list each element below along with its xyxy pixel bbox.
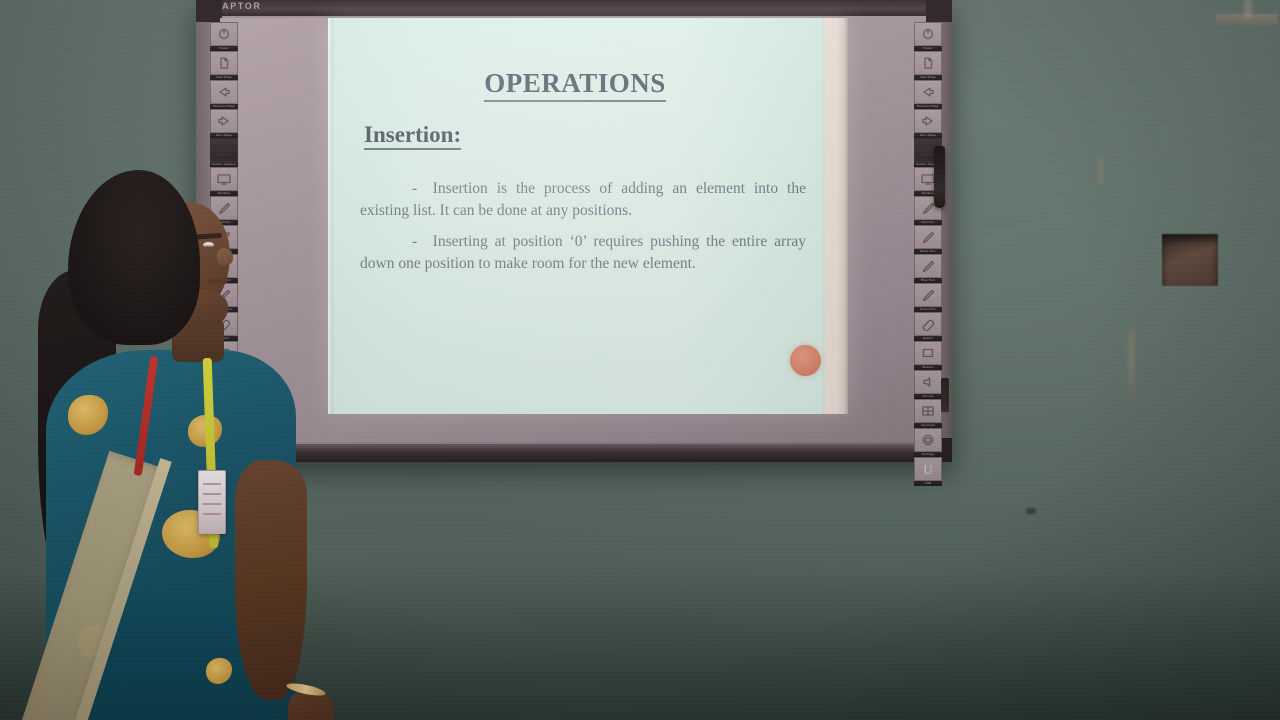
- wall-speck: [1026, 508, 1036, 514]
- toolbar-button-new-page[interactable]: [914, 51, 942, 75]
- toolbar-button-shape[interactable]: [914, 341, 942, 365]
- pen-green-icon: [920, 288, 936, 302]
- presenter-nose: [217, 248, 233, 265]
- slide-paragraph: - Insertion is the process of adding an …: [360, 178, 806, 222]
- presenter-hair: [68, 170, 200, 345]
- wall-mark-secondary: [1098, 158, 1104, 184]
- presenter-eye: [203, 242, 214, 248]
- toolbar-button-pen-blue[interactable]: [914, 254, 942, 278]
- orange-dot-marker: [790, 345, 821, 376]
- slide-title: OPERATIONS: [328, 68, 822, 99]
- wall-shelf-post: [1244, 0, 1252, 18]
- slide-body: - Insertion is the process of adding an …: [360, 178, 806, 284]
- arrow-left-icon: [216, 85, 232, 99]
- whiteboard-toolbar-right[interactable]: PowerNew PagePrevious PageNext PageScree…: [914, 22, 942, 486]
- new-page-icon: [920, 56, 936, 70]
- arrow-left-icon: [920, 85, 936, 99]
- toolbar-button-volume[interactable]: [914, 370, 942, 394]
- slide-paragraph: - Inserting at position ‘0’ requires pus…: [360, 231, 806, 275]
- arrow-right-icon: [920, 114, 936, 128]
- volume-icon: [920, 375, 936, 389]
- whiteboard-corner-top-left: [196, 0, 222, 22]
- whiteboard-frame-top: [196, 0, 952, 16]
- presenter-arm: [235, 460, 307, 700]
- usb-glyph: U: [923, 463, 932, 476]
- classroom-scene: RAPTOR PowerNew PagePrevious PageNext Pa…: [0, 0, 1280, 720]
- wall-niche: [1162, 234, 1218, 286]
- camera-icon: [216, 143, 232, 157]
- toolbar-button-pen-green[interactable]: [914, 283, 942, 307]
- slide-right-color-band: [822, 18, 848, 414]
- shape-icon: [920, 346, 936, 360]
- presenter-lips: [208, 278, 228, 284]
- toolbar-button-arrow-left[interactable]: [210, 80, 238, 104]
- projected-slide: OPERATIONS Insertion: - Insertion is the…: [328, 18, 848, 414]
- toolbar-button-arrow-right[interactable]: [914, 109, 942, 133]
- toolbar-button-pen-black[interactable]: [914, 225, 942, 249]
- pen-blue-icon: [920, 259, 936, 273]
- toolbar-button-power[interactable]: [210, 22, 238, 46]
- presenter: [20, 160, 350, 720]
- whiteboard-stylus-secondary[interactable]: [941, 378, 949, 412]
- toolbar-button-arrow-right[interactable]: [210, 109, 238, 133]
- settings-icon: [920, 433, 936, 447]
- toolbar-button-power[interactable]: [914, 22, 942, 46]
- pen-black-icon: [920, 230, 936, 244]
- slide-subtitle: Insertion:: [364, 122, 461, 148]
- toolbar-button-camera[interactable]: [210, 138, 238, 162]
- eraser-icon: [920, 317, 936, 331]
- toolbar-button-usb[interactable]: U: [914, 457, 942, 481]
- wall-mark: [1128, 330, 1135, 402]
- whiteboard-stylus[interactable]: [934, 146, 945, 208]
- power-icon: [920, 27, 936, 41]
- toolbar-button-grid[interactable]: [914, 399, 942, 423]
- toolbar-button-label: USB: [914, 481, 942, 486]
- new-page-icon: [216, 56, 232, 70]
- power-icon: [216, 27, 232, 41]
- presenter-id-badge: [198, 470, 226, 534]
- grid-icon: [920, 404, 936, 418]
- toolbar-button-new-page[interactable]: [210, 51, 238, 75]
- whiteboard-corner-top-right: [926, 0, 952, 22]
- toolbar-button-arrow-left[interactable]: [914, 80, 942, 104]
- toolbar-button-settings[interactable]: [914, 428, 942, 452]
- toolbar-button-eraser[interactable]: [914, 312, 942, 336]
- slide-subtitle-text: Insertion:: [364, 122, 461, 150]
- slide-title-text: OPERATIONS: [484, 68, 666, 102]
- arrow-right-icon: [216, 114, 232, 128]
